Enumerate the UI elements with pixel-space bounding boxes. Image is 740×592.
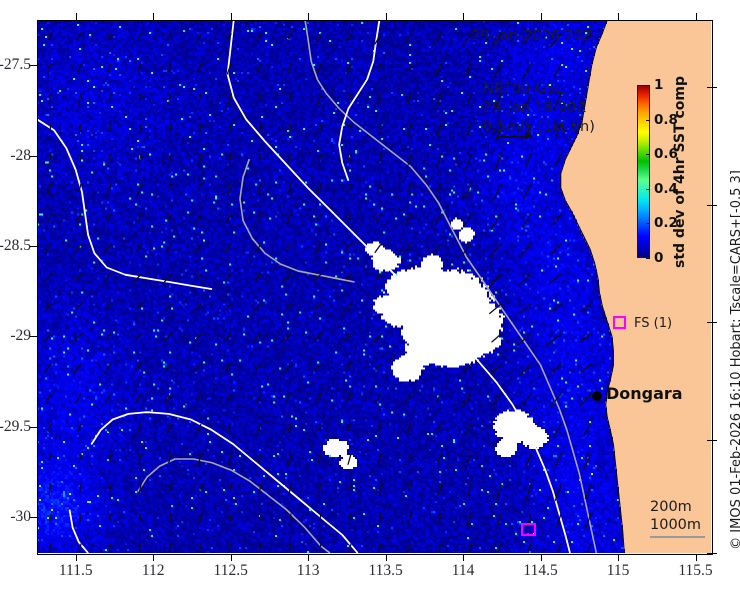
x-tick (541, 13, 542, 20)
x-tick (308, 554, 309, 561)
colorbar-tick (646, 120, 650, 121)
depth-200m-label: 200m (650, 498, 701, 516)
y-tick (30, 156, 37, 157)
x-tick (231, 554, 232, 561)
product-time-label: 29-Jan 18:00Z (483, 99, 595, 118)
y-tick-label: -29 (0, 327, 31, 345)
vector-scale-label: 0.5m/s (1kt 6h) (483, 118, 595, 137)
y-tick-label: -28 (0, 147, 31, 165)
outer-tick (707, 205, 717, 206)
y-tick (30, 517, 37, 518)
x-tick (618, 13, 619, 20)
x-tick-label: 115 (607, 562, 630, 580)
x-tick (618, 554, 619, 561)
colorbar-tick-label: 0 (654, 250, 663, 266)
outer-tick (707, 553, 717, 554)
colorbar-tick (646, 258, 650, 259)
y-tick (30, 246, 37, 247)
x-tick-label: 114 (452, 562, 475, 580)
timestamp-label: 29-Jan-2026 20Z (471, 28, 593, 44)
outer-tick (707, 322, 717, 323)
x-tick-label: 114.5 (523, 562, 557, 580)
product-name-label: NRT00 GSL (483, 80, 595, 99)
x-tick (386, 554, 387, 561)
depth-1000m-label: 1000m (650, 516, 701, 534)
x-tick (76, 554, 77, 561)
x-tick (231, 13, 232, 20)
x-tick-label: 111.5 (59, 562, 93, 580)
x-tick-label: 113 (297, 562, 320, 580)
x-tick (153, 13, 154, 20)
x-tick (386, 13, 387, 20)
y-tick-label: -29.5 (0, 418, 31, 436)
fs-station-marker-secondary-icon[interactable] (521, 523, 536, 536)
colorbar-tick (646, 223, 650, 224)
colorbar-tick-label: 1 (654, 77, 663, 93)
x-tick-label: 112.5 (214, 562, 248, 580)
y-tick (30, 336, 37, 337)
x-tick-label: 112 (142, 562, 165, 580)
outer-tick (707, 87, 717, 88)
x-tick (153, 554, 154, 561)
y-tick-label: -28.5 (0, 237, 31, 255)
colorbar-tick (646, 85, 650, 86)
product-info-block: NRT00 GSL 29-Jan 18:00Z 0.5m/s (1kt 6h) (483, 80, 595, 137)
outer-tick (707, 440, 717, 441)
y-tick (30, 65, 37, 66)
velocity-vector-layer (37, 20, 711, 553)
map-plot-area[interactable] (37, 20, 711, 553)
fs-station-label: FS (1) (634, 316, 672, 331)
x-tick (463, 13, 464, 20)
depth-contour-legend: 200m 1000m (650, 498, 701, 534)
x-tick-label: 113.5 (368, 562, 402, 580)
colorbar-title: std dev of 4hr SST comp (672, 76, 688, 268)
x-tick (76, 13, 77, 20)
y-tick (30, 427, 37, 428)
x-tick-label: 115.5 (678, 562, 712, 580)
dongara-place-label: Dongara (606, 384, 683, 403)
sst-map-figure: 29-Jan-2026 20Z NRT00 GSL 29-Jan 18:00Z … (0, 0, 740, 592)
y-tick-label: -30 (0, 508, 31, 526)
copyright-label: © IMOS 01-Feb-2026 16:10 Hobart; Tscale=… (729, 170, 740, 550)
x-tick (696, 554, 697, 561)
x-tick (696, 13, 697, 20)
x-tick (541, 554, 542, 561)
colorbar-gradient (637, 85, 650, 258)
x-tick (463, 554, 464, 561)
colorbar-tick (646, 189, 650, 190)
y-tick-label: -27.5 (0, 56, 31, 74)
depth-legend-line (650, 536, 705, 538)
colorbar-tick (646, 154, 650, 155)
fs-station-marker-icon[interactable] (613, 316, 626, 329)
x-tick (308, 13, 309, 20)
dongara-marker-dot (592, 391, 602, 401)
